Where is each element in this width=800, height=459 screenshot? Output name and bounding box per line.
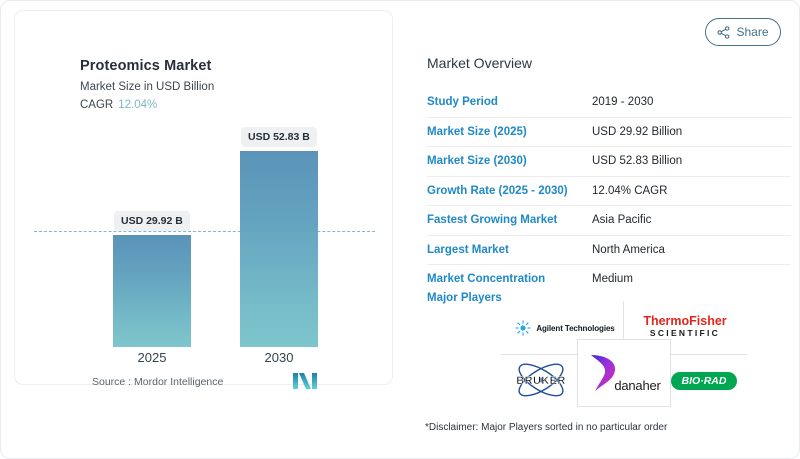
biorad-label: BIO·RAD: [671, 372, 738, 390]
agilent-label: Agilent Technologies: [536, 324, 614, 333]
player-logo-bruker: BRUKER: [503, 359, 579, 403]
table-row-value: USD 52.83 Billion: [592, 155, 682, 167]
danaher-label: danaher: [614, 378, 660, 393]
major-players-label: Major Players: [427, 292, 502, 304]
bar-value-label-2025: USD 29.92 B: [114, 211, 190, 231]
bruker-label: BRUKER: [516, 375, 565, 387]
table-row: Study Period 2019 - 2030: [427, 88, 791, 118]
table-row: Largest Market North America: [427, 236, 791, 266]
table-row: Market Concentration Medium: [427, 265, 791, 294]
reference-dashed-line: [34, 231, 375, 232]
table-row-key: Largest Market: [427, 244, 592, 256]
agilent-starburst-icon: [515, 320, 531, 336]
table-row: Market Size (2025) USD 29.92 Billion: [427, 118, 791, 148]
table-row-key: Market Size (2030): [427, 155, 592, 167]
chart-card: Proteomics Market Market Size in USD Bil…: [14, 10, 393, 385]
disclaimer-text: *Disclaimer: Major Players sorted in no …: [425, 422, 667, 433]
thermofisher-wordmark: ThermoFisher: [643, 315, 726, 328]
thermofisher-subtext: SCIENTIFIC: [643, 328, 726, 339]
table-row-value: 12.04% CAGR: [592, 185, 667, 197]
table-row-key: Study Period: [427, 96, 592, 108]
x-axis-label-2030: 2030: [240, 350, 318, 365]
bar-value-label-2030: USD 52.83 B: [241, 127, 317, 147]
table-row: Growth Rate (2025 - 2030) 12.04% CAGR: [427, 177, 791, 207]
table-row: Fastest Growing Market Asia Pacific: [427, 206, 791, 236]
market-overview-panel: Market Overview Study Period 2019 - 2030…: [421, 10, 791, 310]
mordor-intelligence-logo: [292, 373, 319, 389]
table-row-key: Market Concentration: [427, 273, 592, 285]
bar-chart-plot: USD 29.92 B USD 52.83 B 2025 2030: [15, 11, 394, 386]
bar-2025: [113, 235, 191, 347]
major-players-logo-grid: Agilent Technologies ThermoFisher SCIENT…: [501, 301, 747, 407]
x-axis-label-2025: 2025: [113, 350, 191, 365]
table-row-key: Growth Rate (2025 - 2030): [427, 185, 592, 197]
table-row: Market Size (2030) USD 52.83 Billion: [427, 147, 791, 177]
table-row-key: Market Size (2025): [427, 126, 592, 138]
source-text: Source : Mordor Intelligence: [92, 376, 223, 388]
player-logo-danaher: danaher: [579, 341, 669, 405]
player-logo-biorad: BIO·RAD: [663, 361, 745, 401]
table-row-value: 2019 - 2030: [592, 96, 653, 108]
market-overview-heading: Market Overview: [427, 55, 532, 71]
bar-2030: [240, 151, 318, 347]
market-summary-page: Proteomics Market Market Size in USD Bil…: [0, 0, 800, 459]
table-row-value: USD 29.92 Billion: [592, 126, 682, 138]
table-row-key: Fastest Growing Market: [427, 214, 592, 226]
table-row-value: Asia Pacific: [592, 214, 651, 226]
market-overview-table: Study Period 2019 - 2030 Market Size (20…: [427, 88, 791, 294]
table-row-value: North America: [592, 244, 665, 256]
table-row-value: Medium: [592, 273, 633, 285]
danaher-swoosh-icon: [587, 353, 617, 393]
